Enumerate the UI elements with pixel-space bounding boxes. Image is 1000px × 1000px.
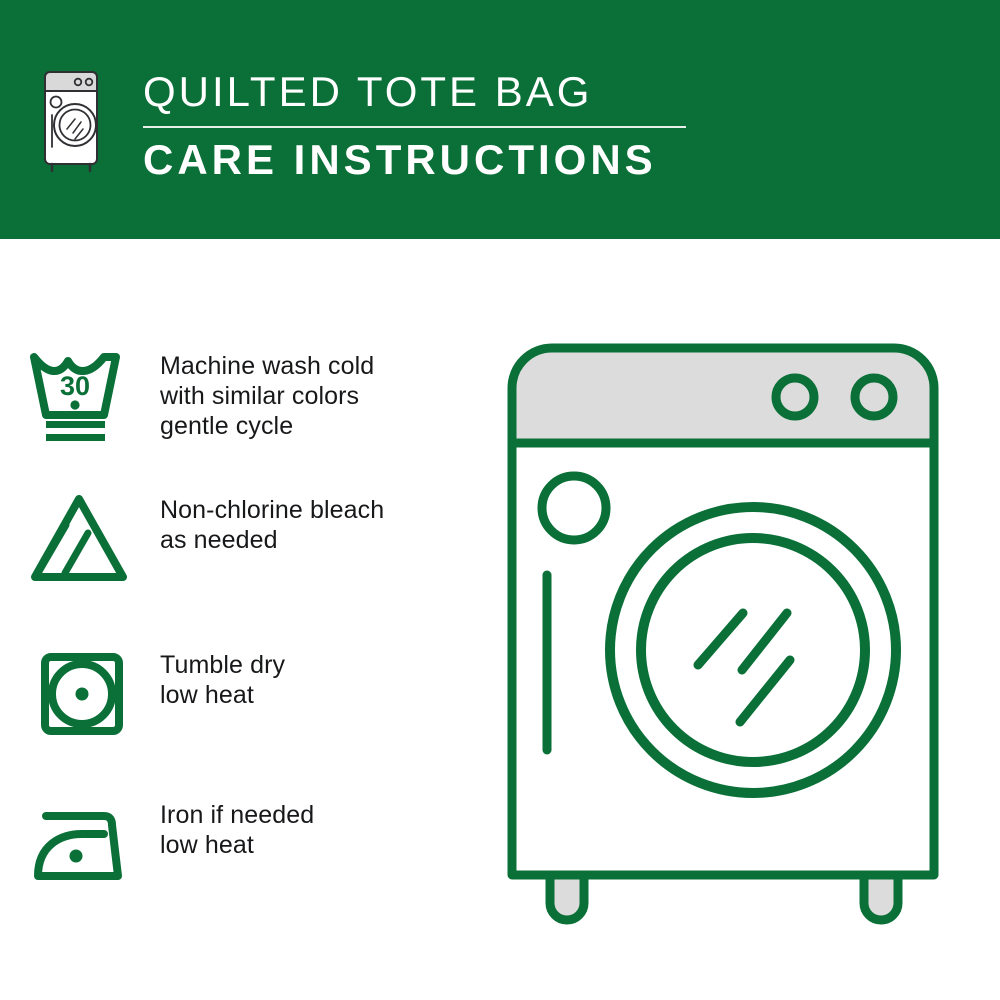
text-line: as needed [160,525,470,555]
text-line: low heat [160,830,470,860]
non-chlorine-bleach-triangle-icon [0,487,160,589]
care-instruction-text: Machine wash cold with similar colors ge… [160,343,470,441]
machine-leg-left [550,875,584,920]
list-item: Iron if needed low heat [0,792,470,894]
page-subtitle: CARE INSTRUCTIONS [143,136,743,184]
tumble-dry-low-heat-icon [0,642,160,744]
text-line: gentle cycle [160,411,470,441]
care-instruction-text: Tumble dry low heat [160,642,470,710]
text-line: Iron if needed [160,800,470,830]
text-line: Non-chlorine bleach [160,495,470,525]
washing-machine-illustration [490,330,980,940]
indicator-circle-icon [542,476,606,540]
wash-temperature-label: 30 [60,371,90,401]
list-item: 30 Machine wash cold with similar colors… [0,343,470,445]
door-shine-line [742,613,787,670]
washing-machine-icon [42,67,104,175]
text-line: low heat [160,680,470,710]
control-panel-fill [512,348,934,443]
list-item: Tumble dry low heat [0,642,470,744]
text-line: Tumble dry [160,650,470,680]
header-banner: QUILTED TOTE BAG CARE INSTRUCTIONS [0,0,1000,239]
list-item: Non-chlorine bleach as needed [0,487,470,589]
care-instruction-text: Non-chlorine bleach as needed [160,487,470,555]
wash-tub-30-gentle-icon: 30 [0,343,160,445]
text-line: Machine wash cold [160,351,470,381]
title-divider [143,126,686,128]
care-instruction-text: Iron if needed low heat [160,792,470,860]
page-title: QUILTED TOTE BAG [143,68,743,116]
iron-low-heat-icon [0,792,160,894]
text-line: with similar colors [160,381,470,411]
care-instructions-page: QUILTED TOTE BAG CARE INSTRUCTIONS 30 [0,0,1000,1000]
header-title-block: QUILTED TOTE BAG CARE INSTRUCTIONS [143,68,743,184]
door-shine-line [698,613,743,665]
care-instructions-list: 30 Machine wash cold with similar colors… [0,239,470,1000]
machine-leg-right [864,875,898,920]
